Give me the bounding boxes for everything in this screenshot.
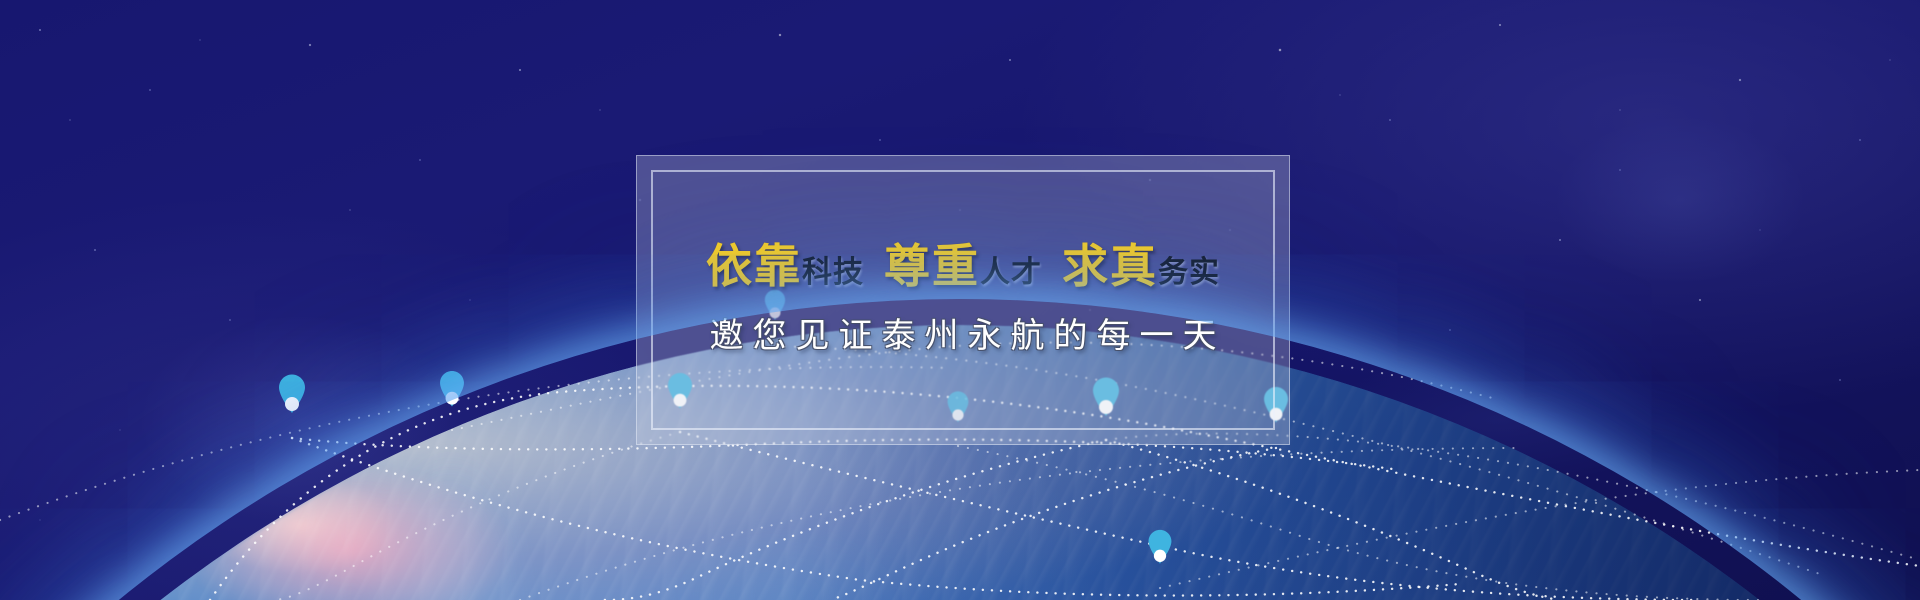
globe-atmosphere-wrap [0,325,1920,600]
slogan-headline: 依靠 科技 尊重 人才 求真 务实 [706,244,1220,290]
headline-segment-4: 人才 [980,258,1042,288]
atmospheric-glow [0,299,1920,600]
headline-segment-3: 尊重 [884,244,980,290]
hero-banner: 依靠 科技 尊重 人才 求真 务实 邀您见证泰州永航的每一天 [0,0,1920,600]
headline-segment-6: 务实 [1158,258,1220,288]
map-pin [277,373,307,415]
headline-segment-5: 求真 [1062,244,1158,290]
headline-segment-2: 科技 [802,258,864,288]
headline-segment-1: 依靠 [706,244,802,290]
